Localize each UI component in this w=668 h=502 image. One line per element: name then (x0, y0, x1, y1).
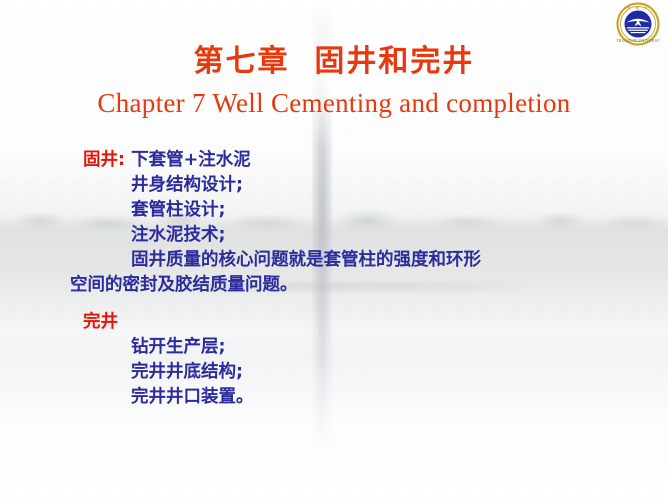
completion-item-3: 完井井口装置。 (0, 385, 668, 410)
svg-text:PETROLEUM UNIVERSITY: PETROLEUM UNIVERSITY (616, 39, 660, 43)
cementing-item-3: 注水泥技术; (0, 223, 668, 248)
cementing-heading-red: 固井: (83, 150, 125, 170)
slide-title-english: Chapter 7 Well Cementing and completion (0, 87, 668, 119)
cementing-item-1: 井身结构设计; (0, 173, 668, 198)
cementing-heading-blue: 下套管+注水泥 (125, 150, 251, 170)
section-spacer (0, 298, 668, 310)
completion-item-1: 钻开生产层; (0, 335, 668, 360)
completion-item-2: 完井井底结构; (0, 360, 668, 385)
svg-text:★ ★ ★: ★ ★ ★ (627, 5, 649, 10)
cementing-heading: 固井: 下套管+注水泥 (0, 148, 668, 173)
university-logo-icon: ★ ★ ★ PETROLEUM UNIVERSITY (616, 2, 660, 46)
cementing-item-2: 套管柱设计; (0, 198, 668, 223)
slide-title-chinese: 第七章 固井和完井 (0, 45, 668, 80)
completion-heading: 完井 (0, 310, 668, 335)
slide-canvas: ★ ★ ★ PETROLEUM UNIVERSITY 第七章 固井和完井 Cha… (0, 0, 668, 502)
cementing-item-4-wrap: 空间的密封及胶结质量问题。 (0, 273, 668, 298)
cementing-item-4: 固井质量的核心问题就是套管柱的强度和环形 (0, 248, 668, 273)
slide-body: 固井: 下套管+注水泥 井身结构设计; 套管柱设计; 注水泥技术; 固井质量的核… (0, 148, 668, 410)
